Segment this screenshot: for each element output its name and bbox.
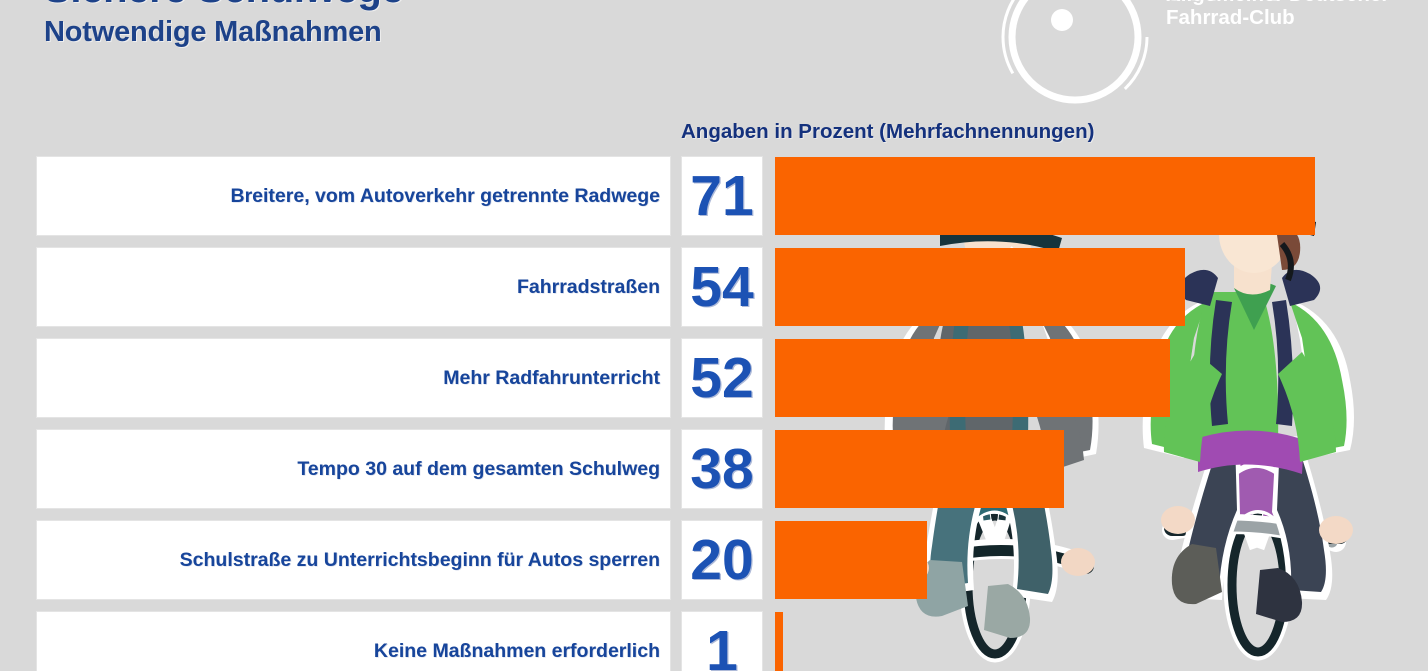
bicycle-wheel-icon — [1000, 0, 1150, 112]
row-value: 1 — [706, 621, 738, 671]
row-label: Mehr Radfahrunterricht — [443, 367, 660, 390]
row-value: 38 — [690, 439, 753, 499]
row-label: Keine Maßnahmen erforderlich — [374, 640, 660, 663]
bar — [775, 339, 1170, 417]
row-label-box: Keine Maßnahmen erforderlich — [37, 612, 670, 671]
chart-units-caption: Angaben in Prozent (Mehrfachnennungen) — [681, 120, 1094, 144]
row-value-box: 54 — [682, 248, 762, 326]
bar — [775, 521, 927, 599]
row-value-box: 1 — [682, 612, 762, 671]
adfc-line2: Fahrrad-Club — [1166, 5, 1295, 30]
row-label-box: Mehr Radfahrunterricht — [37, 339, 670, 417]
bar — [775, 430, 1064, 508]
row-label-box: Breitere, vom Autoverkehr getrennte Radw… — [37, 157, 670, 235]
row-label: Schulstraße zu Unterrichtsbeginn für Aut… — [180, 549, 660, 572]
bar — [775, 157, 1315, 235]
row-value: 20 — [690, 530, 753, 590]
row-label-box: Fahrradstraßen — [37, 248, 670, 326]
row-label-box: Schulstraße zu Unterrichtsbeginn für Aut… — [37, 521, 670, 599]
row-value-box: 38 — [682, 430, 762, 508]
adfc-logo: adfc Allgemeiner Deutscher Fahrrad-Club — [1000, 0, 1390, 86]
row-value-box: 20 — [682, 521, 762, 599]
bar — [775, 612, 783, 671]
infographic-canvas: Sichere Schulwege Notwendige Maßnahmen a… — [0, 0, 1428, 671]
page-title: Sichere Schulwege — [44, 0, 404, 12]
page-subtitle: Notwendige Maßnahmen — [44, 12, 404, 52]
bar — [775, 248, 1185, 326]
chart-rows: Breitere, vom Autoverkehr getrennte Radw… — [0, 0, 1428, 671]
row-label-box: Tempo 30 auf dem gesamten Schulweg — [37, 430, 670, 508]
row-value-box: 71 — [682, 157, 762, 235]
row-value: 54 — [690, 257, 753, 317]
row-value: 52 — [690, 348, 753, 408]
row-value: 71 — [690, 166, 753, 226]
row-label: Breitere, vom Autoverkehr getrennte Radw… — [231, 185, 661, 208]
row-value-box: 52 — [682, 339, 762, 417]
row-label: Fahrradstraßen — [517, 276, 660, 299]
row-label: Tempo 30 auf dem gesamten Schulweg — [297, 458, 660, 481]
title-block: Sichere Schulwege Notwendige Maßnahmen — [44, 0, 404, 52]
